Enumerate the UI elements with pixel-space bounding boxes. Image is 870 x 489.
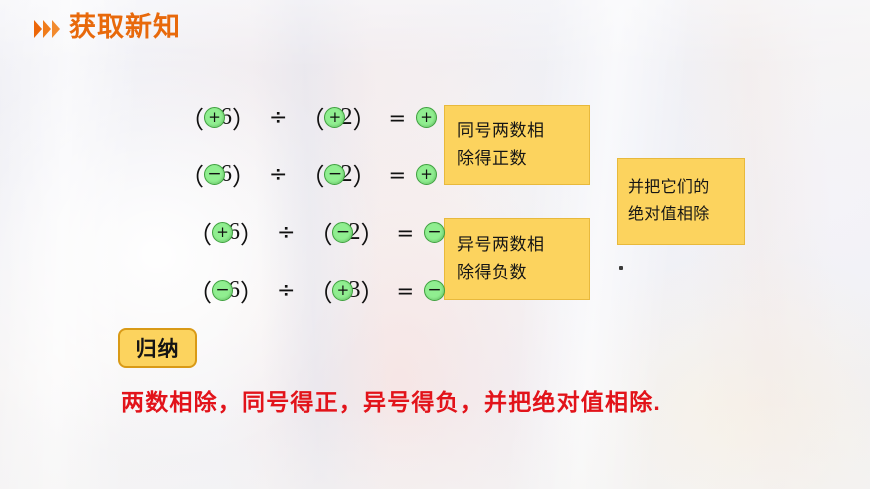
close-paren: ） <box>352 157 376 192</box>
callout-different-sign: 异号两数相 除得负数 <box>444 218 590 300</box>
close-paren: ） <box>240 215 264 250</box>
open-paren: （ <box>300 157 324 192</box>
equation-row: （ − 6 ） ÷ （ + 3 ） = − 3 <box>188 273 466 308</box>
close-paren: ） <box>232 157 256 192</box>
slide-canvas: 获取新知 （ + 6 ） ÷ （ + 2 ） = + 3 （ − <box>0 0 870 489</box>
close-paren: ） <box>352 100 376 135</box>
equation-right-operand: （ + 3 ） <box>308 273 384 308</box>
callout-line: 绝对值相除 <box>628 202 736 228</box>
section-title: 获取新知 <box>34 14 181 41</box>
sign-badge-positive: + <box>416 107 437 128</box>
callout-line: 异号两数相 <box>457 231 579 259</box>
equation-row: （ − 6 ） ÷ （ − 2 ） = + 3 <box>180 157 458 192</box>
equation-right-operand: （ − 2 ） <box>308 215 384 250</box>
summary-tag: 归纳 <box>118 328 197 368</box>
callout-line: 同号两数相 <box>457 117 579 145</box>
open-paren: （ <box>180 157 204 192</box>
equation-left-operand: （ + 6 ） <box>188 215 264 250</box>
equation-right-operand: （ − 2 ） <box>300 157 376 192</box>
open-paren: （ <box>308 273 332 308</box>
equals-operator: = <box>388 106 406 130</box>
triple-chevron-right-icon <box>34 20 60 38</box>
equation-row: （ + 6 ） ÷ （ + 2 ） = + 3 <box>180 100 458 135</box>
close-paren: ） <box>360 273 384 308</box>
sign-badge-positive: + <box>204 107 225 128</box>
callout-line: 并把它们的 <box>628 175 736 201</box>
close-paren: ） <box>240 273 264 308</box>
equation-row: （ + 6 ） ÷ （ − 2 ） = − 3 <box>188 215 466 250</box>
sign-badge-negative: − <box>212 280 233 301</box>
open-paren: （ <box>300 100 324 135</box>
sign-badge-negative: − <box>424 280 445 301</box>
page-title: 获取新知 <box>69 14 181 41</box>
open-paren: （ <box>188 215 212 250</box>
open-paren: （ <box>180 100 204 135</box>
conclusion-text: 两数相除，同号得正，异号得负，并把绝对值相除. <box>121 388 661 418</box>
sign-badge-positive: + <box>212 222 233 243</box>
equation-left-operand: （ + 6 ） <box>180 100 256 135</box>
open-paren: （ <box>188 273 212 308</box>
callout-line: 除得负数 <box>457 259 579 287</box>
callout-line: 除得正数 <box>457 145 579 173</box>
close-paren: ） <box>360 215 384 250</box>
equation-left-operand: （ − 6 ） <box>180 157 256 192</box>
equals-operator: = <box>388 163 406 187</box>
equals-operator: = <box>396 279 414 303</box>
trailing-period-mark <box>619 266 623 270</box>
callout-absolute-value: 并把它们的 绝对值相除 <box>617 158 745 245</box>
equals-operator: = <box>396 221 414 245</box>
sign-badge-negative: − <box>204 164 225 185</box>
summary-tag-label: 归纳 <box>136 333 180 363</box>
open-paren: （ <box>308 215 332 250</box>
close-paren: ） <box>232 100 256 135</box>
sign-badge-negative: − <box>424 222 445 243</box>
equation-right-operand: （ + 2 ） <box>300 100 376 135</box>
division-operator: ÷ <box>277 278 295 303</box>
division-operator: ÷ <box>269 105 287 130</box>
division-operator: ÷ <box>277 220 295 245</box>
sign-badge-positive: + <box>416 164 437 185</box>
division-operator: ÷ <box>269 162 287 187</box>
equation-left-operand: （ − 6 ） <box>188 273 264 308</box>
callout-same-sign: 同号两数相 除得正数 <box>444 105 590 185</box>
